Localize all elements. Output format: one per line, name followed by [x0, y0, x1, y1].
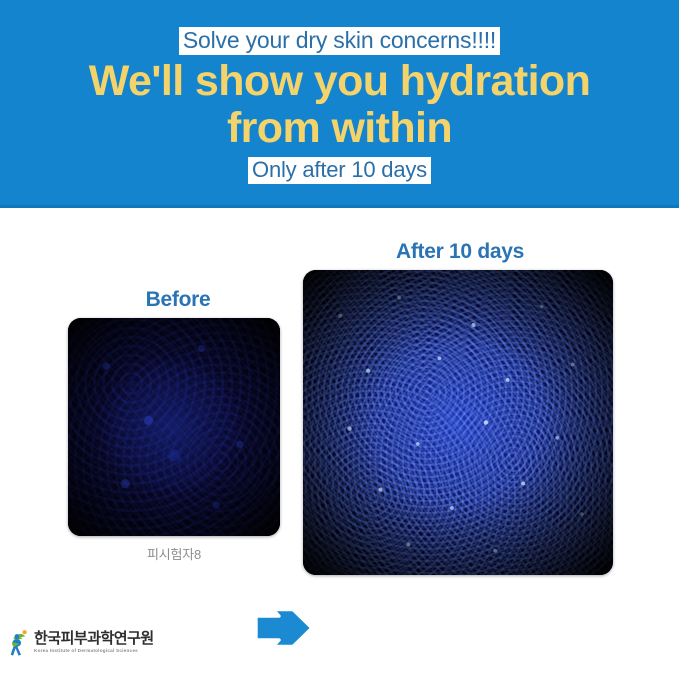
banner-subtitle: Only after 10 days: [0, 157, 679, 184]
after-micrograph-image: [303, 270, 613, 575]
before-micrograph-image: [68, 318, 280, 536]
banner-subtitle-text: Only after 10 days: [248, 157, 431, 184]
before-micrograph-caption: 피시험자8: [68, 544, 280, 563]
footer-logo-name-ko: 한국피부과학연구원: [34, 631, 154, 647]
before-label: Before: [68, 288, 288, 312]
before-micrograph-texture: [68, 318, 280, 536]
footer-logo-text: 한국피부과학연구원 Korea Institute of Dermatologi…: [34, 631, 154, 654]
banner-title: We'll show you hydration from within: [0, 58, 679, 152]
banner-kicker: Solve your dry skin concerns!!!!: [0, 27, 679, 55]
footer-logo-name-en: Korea Institute of Dermatological Scienc…: [34, 647, 154, 654]
footer-logo: 한국피부과학연구원 Korea Institute of Dermatologi…: [9, 629, 154, 656]
header-banner: Solve your dry skin concerns!!!! We'll s…: [0, 0, 679, 208]
after-label: After 10 days: [305, 240, 615, 264]
banner-kicker-text: Solve your dry skin concerns!!!!: [179, 27, 500, 55]
comparison-section: Before After 10 days 피시험자8 한국피부과학연구원: [0, 208, 679, 679]
after-micrograph-texture: [303, 270, 613, 575]
institute-figure-icon: [9, 629, 31, 656]
right-arrow-icon: [253, 604, 315, 652]
